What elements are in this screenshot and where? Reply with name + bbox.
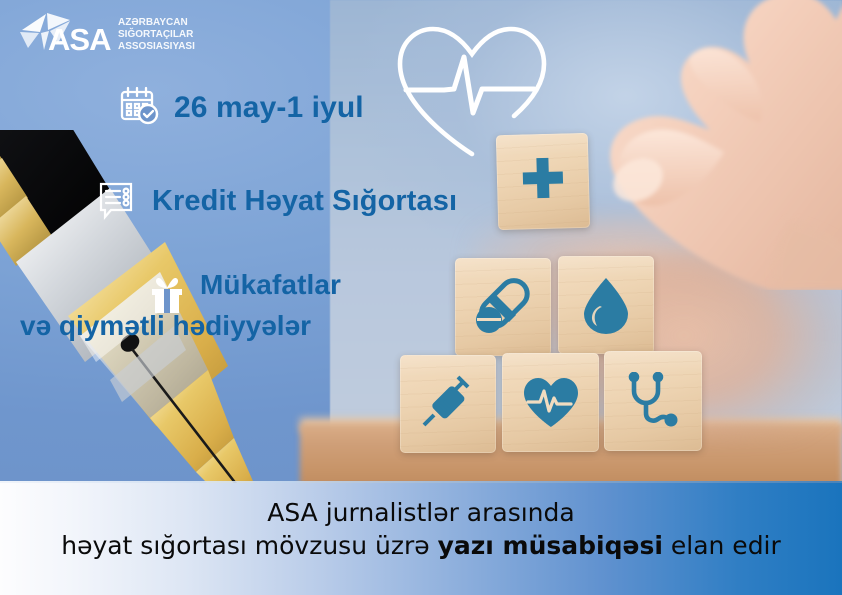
syringe-icon (420, 375, 476, 433)
banner-line2-bold: yazı müsabiqəsi (438, 531, 663, 560)
water-drop-icon (579, 276, 633, 334)
asa-acronym: ASA (48, 22, 111, 57)
bullet-date: 26 may-1 iyul (118, 84, 364, 131)
heart-pulse-outline-icon (392, 22, 552, 162)
block-water-drop (558, 256, 654, 354)
block-stethoscope (604, 351, 702, 451)
pill-capsule-icon (474, 278, 532, 336)
banner-line2-post: elan edir (663, 531, 781, 560)
banner-line-1: ASA jurnalistlər arasında (0, 497, 842, 530)
asa-line3: ASSOSIASIYASI (118, 41, 195, 52)
bullet-prize-label: Mükafatlar (200, 268, 341, 302)
calendar-check-icon (118, 84, 160, 131)
poster-root: ASA AZƏRBAYCAN SIĞORTAÇILAR ASSOSIASIYAS… (0, 0, 842, 595)
banner-line2-pre: həyat sığortası mövzusu üzrə (61, 531, 437, 560)
asa-line2: SIĞORTAÇILAR (118, 27, 194, 40)
block-pill (455, 258, 551, 356)
bullet-credit: Kredit Həyat Sığortası (98, 178, 457, 225)
heart-pulse-icon (522, 377, 580, 429)
asa-line1: AZƏRBAYCAN (118, 17, 188, 28)
asa-logo[interactable]: ASA AZƏRBAYCAN SIĞORTAÇILAR ASSOSIASIYAS… (14, 10, 204, 58)
bullet-date-label: 26 may-1 iyul (174, 92, 364, 124)
block-heart-pulse (502, 353, 599, 452)
background-photo (0, 0, 842, 500)
hand-photo (560, 0, 842, 290)
bullet-prize-label-2: və qiymətli hədiyyələr (20, 310, 311, 342)
bullet-credit-label: Kredit Həyat Sığortası (152, 186, 457, 217)
document-list-icon (98, 178, 138, 225)
banner-line-2: həyat sığortası mövzusu üzrə yazı müsabi… (0, 530, 842, 563)
stethoscope-icon (624, 372, 682, 430)
banner-text: ASA jurnalistlər arasında həyat sığortas… (0, 497, 842, 562)
block-syringe (400, 355, 496, 453)
